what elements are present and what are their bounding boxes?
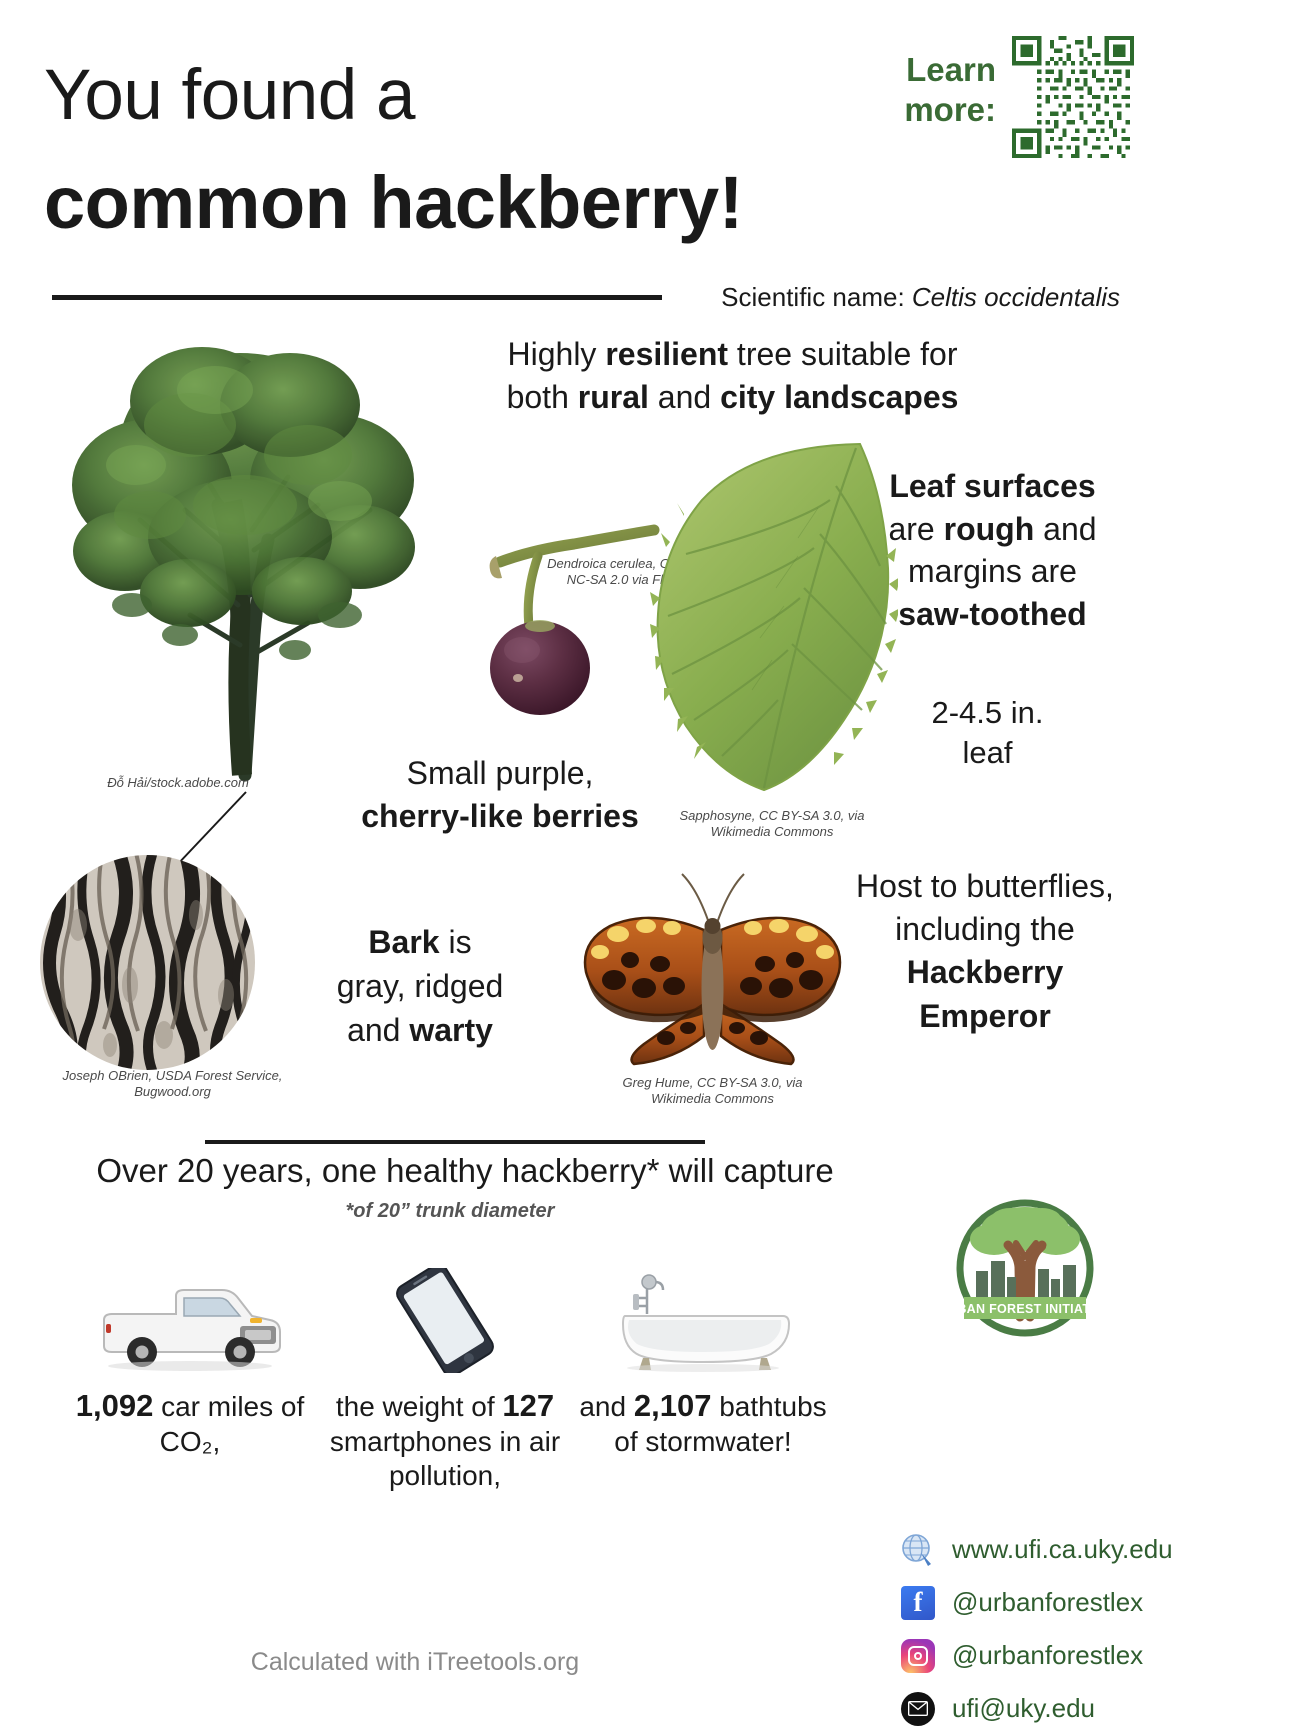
stat-car-miles: 1,092 car miles of CO₂, bbox=[65, 1268, 315, 1459]
qr-code-icon[interactable] bbox=[1012, 36, 1134, 158]
butterfly-line4: Emperor bbox=[919, 998, 1051, 1034]
tree-photo bbox=[40, 305, 470, 785]
bark-line3b: warty bbox=[409, 1012, 493, 1048]
leaf-line2a: are bbox=[888, 511, 943, 547]
leaf-size-value: 2-4.5 in. bbox=[931, 695, 1043, 730]
berry-description: Small purple, cherry-like berries bbox=[330, 752, 670, 838]
butterfly-line1: Host to butterflies, bbox=[856, 868, 1114, 904]
benefits-heading: Over 20 years, one healthy hackberry* wi… bbox=[30, 1152, 900, 1190]
intro-l1b: resilient bbox=[605, 336, 728, 372]
leaf-line3: margins are bbox=[908, 553, 1077, 589]
leaf-size-label: 2-4.5 in. leaf bbox=[860, 693, 1115, 774]
smartphone-icon bbox=[320, 1268, 570, 1373]
learn-more-label: Learn more: bbox=[866, 50, 996, 131]
contact-row-facebook[interactable]: f @urbanforestlex bbox=[900, 1581, 1200, 1624]
page-title-line2: common hackberry! bbox=[44, 160, 743, 245]
page-title-line1: You found a bbox=[44, 55, 415, 136]
scientific-name-prefix: Scientific name: bbox=[721, 282, 912, 312]
stat-car-label: 1,092 car miles of CO₂, bbox=[65, 1387, 315, 1459]
stat-phone-suffix: smartphones in air pollution, bbox=[330, 1426, 560, 1491]
email-icon bbox=[900, 1691, 936, 1727]
infographic-page: You found a common hackberry! Learn more… bbox=[0, 0, 1296, 1728]
leaf-line2b: rough bbox=[944, 511, 1035, 547]
stat-bath-value: 2,107 bbox=[634, 1388, 712, 1423]
intro-l2d: city landscapes bbox=[720, 379, 958, 415]
ufi-logo-text: URBAN FOREST INITIATIVE bbox=[950, 1302, 1100, 1316]
contact-list: www.ufi.ca.uky.edu f @urbanforestlex @ur… bbox=[900, 1528, 1200, 1728]
intro-l2c: and bbox=[649, 379, 720, 415]
intro-l1a: Highly bbox=[508, 336, 606, 372]
stat-bath-prefix: and bbox=[579, 1391, 634, 1422]
butterfly-line2: including the bbox=[895, 911, 1075, 947]
header-divider bbox=[52, 295, 662, 300]
leaf-photo-credit: Sapphosyne, CC BY-SA 3.0, via Wikimedia … bbox=[672, 808, 872, 841]
stat-phone-value: 127 bbox=[502, 1388, 554, 1423]
berry-line2: cherry-like berries bbox=[361, 798, 639, 834]
intro-l1c: tree suitable for bbox=[728, 336, 957, 372]
scientific-name: Scientific name: Celtis occidentalis bbox=[700, 282, 1120, 313]
intro-text: Highly resilient tree suitable for both … bbox=[440, 333, 1025, 419]
stat-car-value: 1,092 bbox=[76, 1388, 154, 1423]
bark-line1b: is bbox=[440, 924, 472, 960]
leaf-line4: saw-toothed bbox=[898, 596, 1086, 632]
benefits-divider bbox=[205, 1140, 705, 1144]
bark-line3a: and bbox=[347, 1012, 409, 1048]
calculated-note: Calculated with iTreetools.org bbox=[130, 1648, 700, 1677]
butterfly-photo-credit: Greg Hume, CC BY-SA 3.0, via Wikimedia C… bbox=[600, 1075, 825, 1108]
benefits-subnote: *of 20” trunk diameter bbox=[180, 1200, 720, 1223]
contact-row-instagram[interactable]: @urbanforestlex bbox=[900, 1634, 1200, 1677]
tree-photo-credit: Đỗ Hải/stock.adobe.com bbox=[88, 775, 268, 791]
berry-line1: Small purple, bbox=[407, 755, 594, 791]
stat-car-suffix: car miles of CO₂, bbox=[153, 1391, 304, 1457]
bark-photo bbox=[40, 855, 255, 1070]
leaf-line1: Leaf surfaces bbox=[889, 468, 1095, 504]
leaf-description: Leaf surfaces are rough and margins are … bbox=[860, 465, 1125, 635]
bark-line2: gray, ridged bbox=[337, 968, 504, 1004]
stat-bathtubs: and 2,107 bathtubs of stormwater! bbox=[578, 1268, 828, 1459]
bark-description: Bark is gray, ridged and warty bbox=[275, 920, 565, 1052]
contact-row-website[interactable]: www.ufi.ca.uky.edu bbox=[900, 1528, 1200, 1571]
contact-row-email[interactable]: ufi@uky.edu bbox=[900, 1687, 1200, 1728]
stat-bath-label: and 2,107 bathtubs of stormwater! bbox=[578, 1387, 828, 1459]
email-text: ufi@uky.edu bbox=[952, 1693, 1095, 1724]
bark-line1a: Bark bbox=[368, 924, 439, 960]
leaf-size-unit: leaf bbox=[963, 735, 1013, 770]
website-text: www.ufi.ca.uky.edu bbox=[952, 1534, 1173, 1565]
butterfly-photo bbox=[570, 868, 855, 1068]
facebook-icon: f bbox=[900, 1585, 936, 1621]
facebook-text: @urbanforestlex bbox=[952, 1587, 1143, 1618]
bathtub-icon bbox=[578, 1268, 828, 1373]
leaf-line2c: and bbox=[1034, 511, 1096, 547]
intro-l2a: both bbox=[507, 379, 578, 415]
stat-smartphones: the weight of 127 smartphones in air pol… bbox=[320, 1268, 570, 1493]
ufi-logo: URBAN FOREST INITIATIVE bbox=[950, 1193, 1100, 1343]
instagram-icon bbox=[900, 1638, 936, 1674]
bark-pointer-line bbox=[170, 790, 250, 870]
butterfly-line3: Hackberry bbox=[907, 954, 1064, 990]
stat-phone-label: the weight of 127 smartphones in air pol… bbox=[320, 1387, 570, 1493]
instagram-text: @urbanforestlex bbox=[952, 1640, 1143, 1671]
butterfly-description: Host to butterflies, including the Hackb… bbox=[835, 865, 1135, 1038]
bark-photo-credit: Joseph OBrien, USDA Forest Service, Bugw… bbox=[55, 1068, 290, 1101]
globe-icon bbox=[900, 1532, 936, 1568]
stat-phone-prefix: the weight of bbox=[336, 1391, 503, 1422]
learn-more-text: Learn more: bbox=[904, 51, 996, 128]
intro-l2b: rural bbox=[578, 379, 649, 415]
scientific-name-value: Celtis occidentalis bbox=[912, 282, 1120, 312]
pickup-truck-icon bbox=[65, 1268, 315, 1373]
